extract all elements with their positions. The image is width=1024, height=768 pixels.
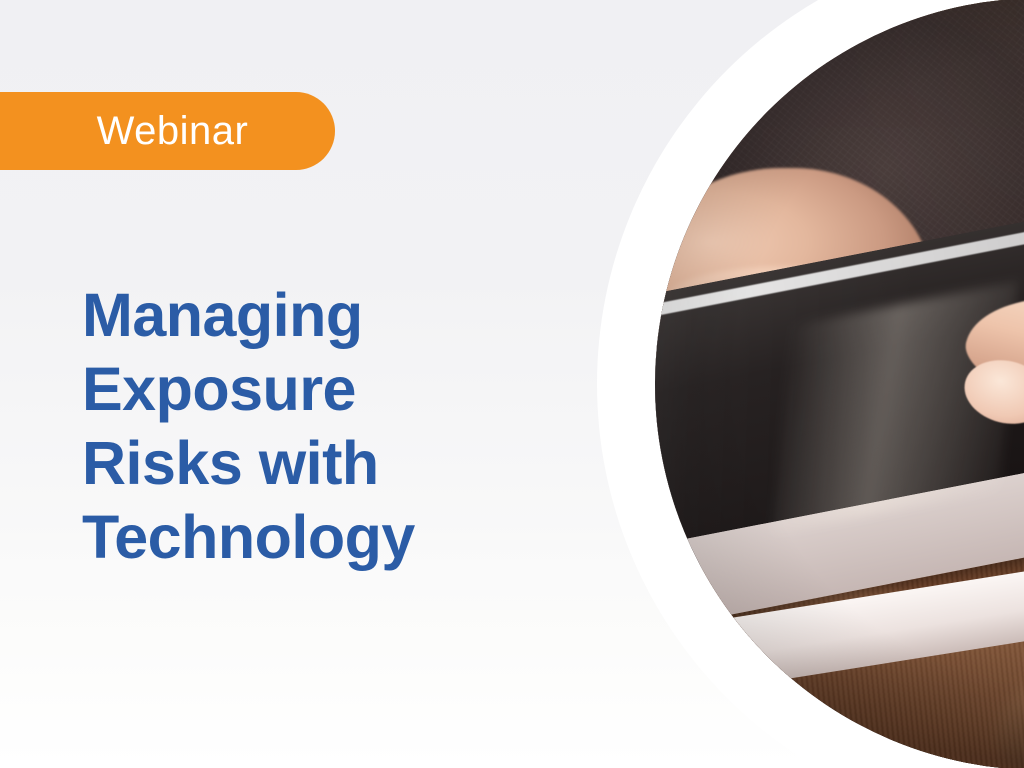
webinar-title-slide: Webinar Managing Exposure Risks with Tec… xyxy=(0,0,1024,768)
photo-vignette-layer xyxy=(655,0,1024,768)
webinar-badge-label: Webinar xyxy=(97,111,249,151)
headline-line-3: Risks with xyxy=(82,426,552,500)
headline-line-1: Managing xyxy=(82,278,552,352)
slide-headline: Managing Exposure Risks with Technology xyxy=(82,278,552,574)
headline-line-4: Technology xyxy=(82,500,552,574)
webinar-badge: Webinar xyxy=(0,92,335,170)
tablet-photo xyxy=(655,0,1024,768)
headline-line-2: Exposure xyxy=(82,352,552,426)
